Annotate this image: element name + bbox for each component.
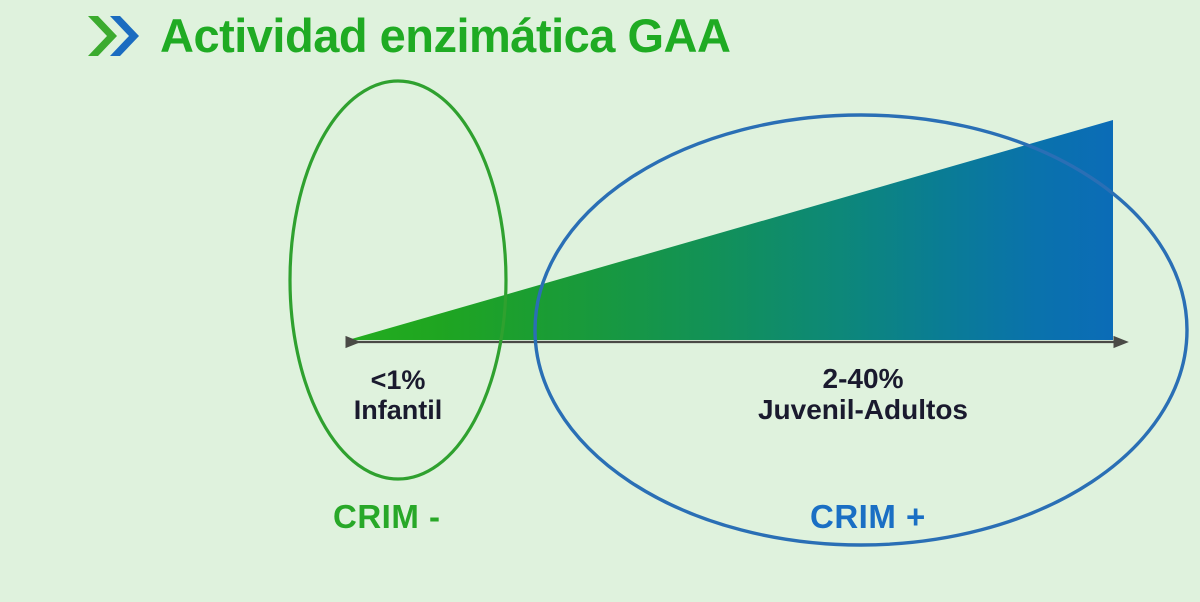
range-name-infantil: Infantil bbox=[273, 395, 523, 425]
range-percent-infantil: <1% bbox=[273, 365, 523, 395]
range-name-juvenil: Juvenil-Adultos bbox=[638, 394, 1088, 425]
range-percent-juvenil: 2-40% bbox=[638, 363, 1088, 394]
range-label-juvenil: 2-40% Juvenil-Adultos bbox=[638, 363, 1088, 426]
crim-negative-label: CRIM - bbox=[333, 498, 440, 536]
gaa-activity-diagram bbox=[0, 0, 1200, 602]
crim-positive-label: CRIM + bbox=[810, 498, 926, 536]
enzyme-activity-wedge bbox=[348, 120, 1113, 340]
slide-canvas: Actividad enzimática GAA bbox=[0, 0, 1200, 602]
range-label-infantil: <1% Infantil bbox=[273, 365, 523, 425]
